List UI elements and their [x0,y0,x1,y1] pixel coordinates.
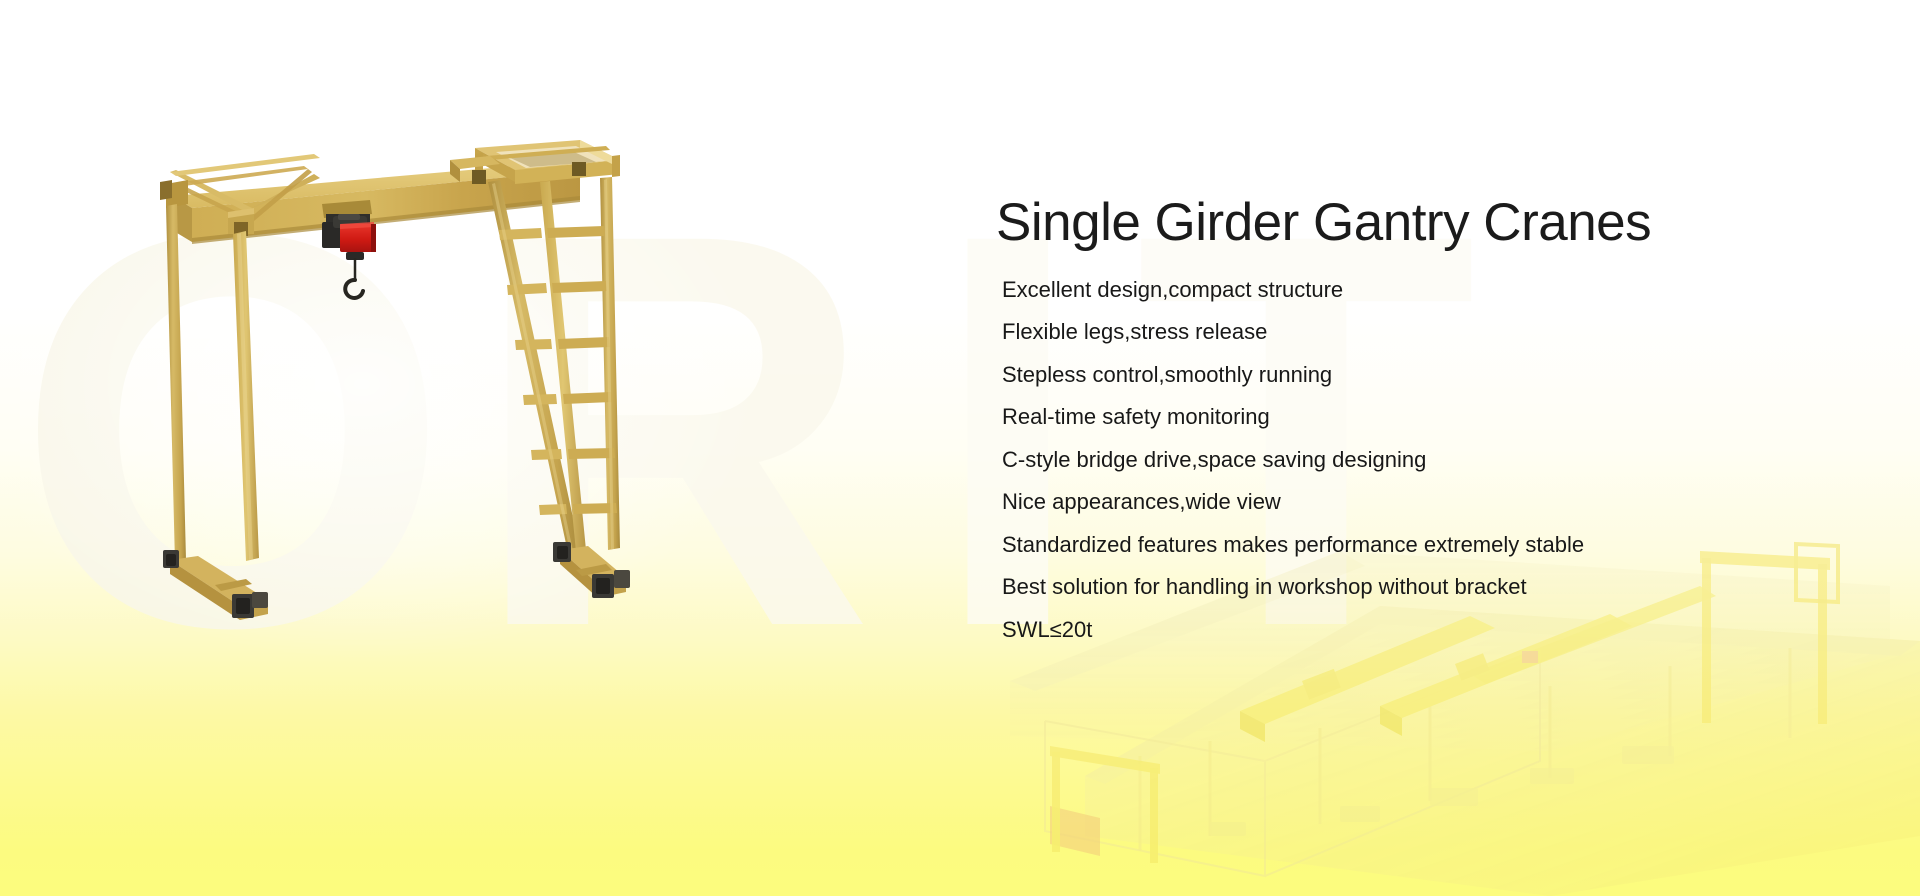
feature-item: Best solution for handling in workshop w… [980,576,1880,598]
lifting-hook [345,258,363,298]
feature-item: Standardized features makes performance … [980,534,1880,556]
feature-item: Stepless control,smoothly running [980,364,1880,386]
feature-item: Real-time safety monitoring [980,406,1880,428]
feature-item: Flexible legs,stress release [980,321,1880,343]
right-rigid-lattice-leg [488,177,620,553]
electric-hoist-trolley[interactable] [322,200,376,260]
gantry-crane-illustration [20,130,820,630]
content-column: Single Girder Gantry Cranes Excellent de… [980,195,1880,661]
feature-item: Nice appearances,wide view [980,491,1880,513]
feature-item: C-style bridge drive,space saving design… [980,449,1880,471]
right-end-truck [553,542,630,598]
hero-banner: O R I T [0,0,1920,896]
top-access-platform [450,140,620,184]
feature-item: Excellent design,compact structure [980,279,1880,301]
feature-item: SWL≤20t [980,619,1880,641]
left-flexible-leg [166,204,259,563]
page-title: Single Girder Gantry Cranes [996,195,1880,251]
feature-list: Excellent design,compact structure Flexi… [980,279,1880,641]
left-end-truck [163,550,268,620]
